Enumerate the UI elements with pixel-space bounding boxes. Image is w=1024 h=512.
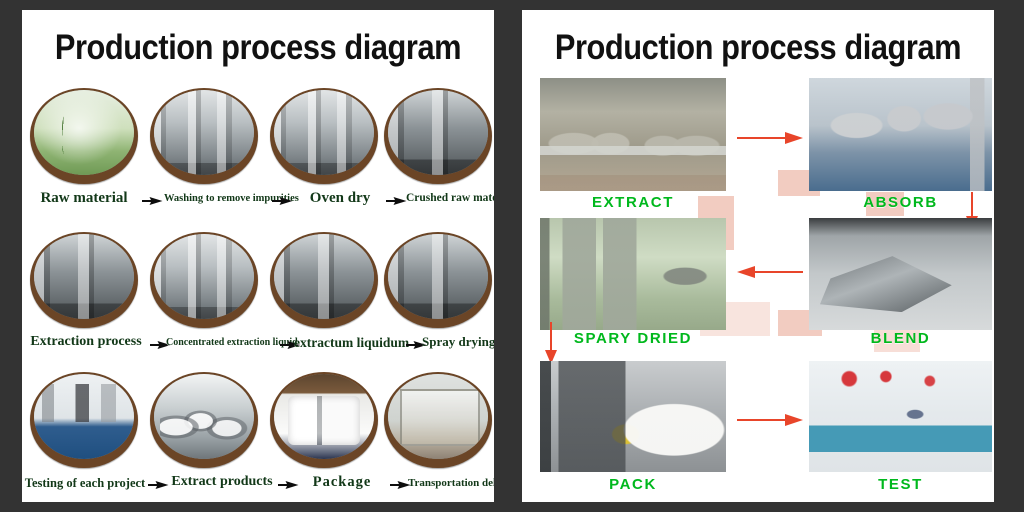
extract-product-cans-photo [154,374,254,459]
process-circle-raw-material [30,88,138,184]
process-circle-extract-products [150,372,258,468]
right-cell-label-spary-dried: SPARY DRIED [540,330,726,347]
right-cell-image-blend [809,218,992,330]
right-cell-image-extract [540,78,726,191]
process-label-crushed: Crushed raw materials [406,192,494,204]
screenshot-root: Production process diagram Raw material [0,0,1024,512]
raw-material-plant-extract-photo [34,90,134,175]
right-cell-image-pack [540,361,726,472]
pallet-shipping-photo [388,374,488,459]
right-cell-label-extract: EXTRACT [540,194,726,211]
right-cell-image-spary-dried [540,218,726,330]
process-label-raw-material: Raw material [28,190,140,207]
arrow-right-triangle-icon [142,194,164,208]
process-circle-oven-dry [270,88,378,184]
arrow-pack-to-test [737,413,803,427]
process-label-extractum: extractum liquidum [294,335,408,351]
packaging-bags-photo [274,374,374,459]
process-label-spray-drying: Spray drying [422,334,494,350]
process-label-oven-dry: Oven dry [294,190,386,207]
process-row-3-images [22,372,494,468]
process-circle-package [270,372,378,468]
left-panel-title: Production process diagram [50,28,465,68]
process-label-package: Package [296,474,388,491]
process-circle-extraction [30,232,138,328]
arrow-blend-to-spray [737,265,803,279]
process-row-3: Testing of each project Extract products… [22,372,494,500]
process-row-1-images [22,88,494,184]
process-row-1-labels: Raw material Washing to remove impuritie… [22,190,494,216]
arrow-extract-to-absorb [737,131,803,145]
extraction-plant-photo [34,234,134,319]
crushing-line-photo [388,90,488,175]
process-circle-spray-drying [384,232,492,328]
process-label-testing: Testing of each project [22,476,148,491]
process-circle-washing [150,88,258,184]
right-cell-image-absorb [809,78,992,191]
process-row-1: Raw material Washing to remove impuritie… [22,88,494,216]
process-label-washing: Washing to remove impurities [164,193,270,204]
washing-equipment-photo [154,90,254,175]
arrow-right-triangle-icon [272,194,294,208]
right-process-panel: Production process diagram EXTRACT ABSOR… [522,10,994,502]
process-label-extraction: Extraction process [24,334,148,350]
right-panel-title: Production process diagram [550,28,965,68]
oven-dryer-photo [274,90,374,175]
spray-dryer-photo [388,234,488,319]
process-circle-crushed [384,88,492,184]
laboratory-testing-photo [34,374,134,459]
process-circle-testing [30,372,138,468]
process-circle-transportation [384,372,492,468]
process-row-2: Extraction process Concentrated extracti… [22,232,494,360]
process-row-2-images [22,232,494,328]
concentration-tanks-photo [154,234,254,319]
right-cell-image-test [809,361,992,472]
process-row-2-labels: Extraction process Concentrated extracti… [22,334,494,360]
right-cell-label-pack: PACK [540,476,726,493]
arrow-spray-to-pack [544,322,558,364]
process-circle-extractum [270,232,378,328]
extractum-liquidum-photo [274,234,374,319]
right-cell-label-blend: BLEND [809,330,992,347]
process-label-extract-products: Extract products [166,474,278,490]
left-process-panel: Production process diagram Raw material [22,10,494,502]
process-label-transportation: Transportation delivery [408,477,494,489]
process-circle-concentrated [150,232,258,328]
arrow-right-triangle-icon [386,194,408,208]
process-label-concentrated: Concentrated extraction liquid [166,337,282,348]
process-row-3-labels: Testing of each project Extract products… [22,474,494,500]
right-cell-label-test: TEST [809,476,992,493]
